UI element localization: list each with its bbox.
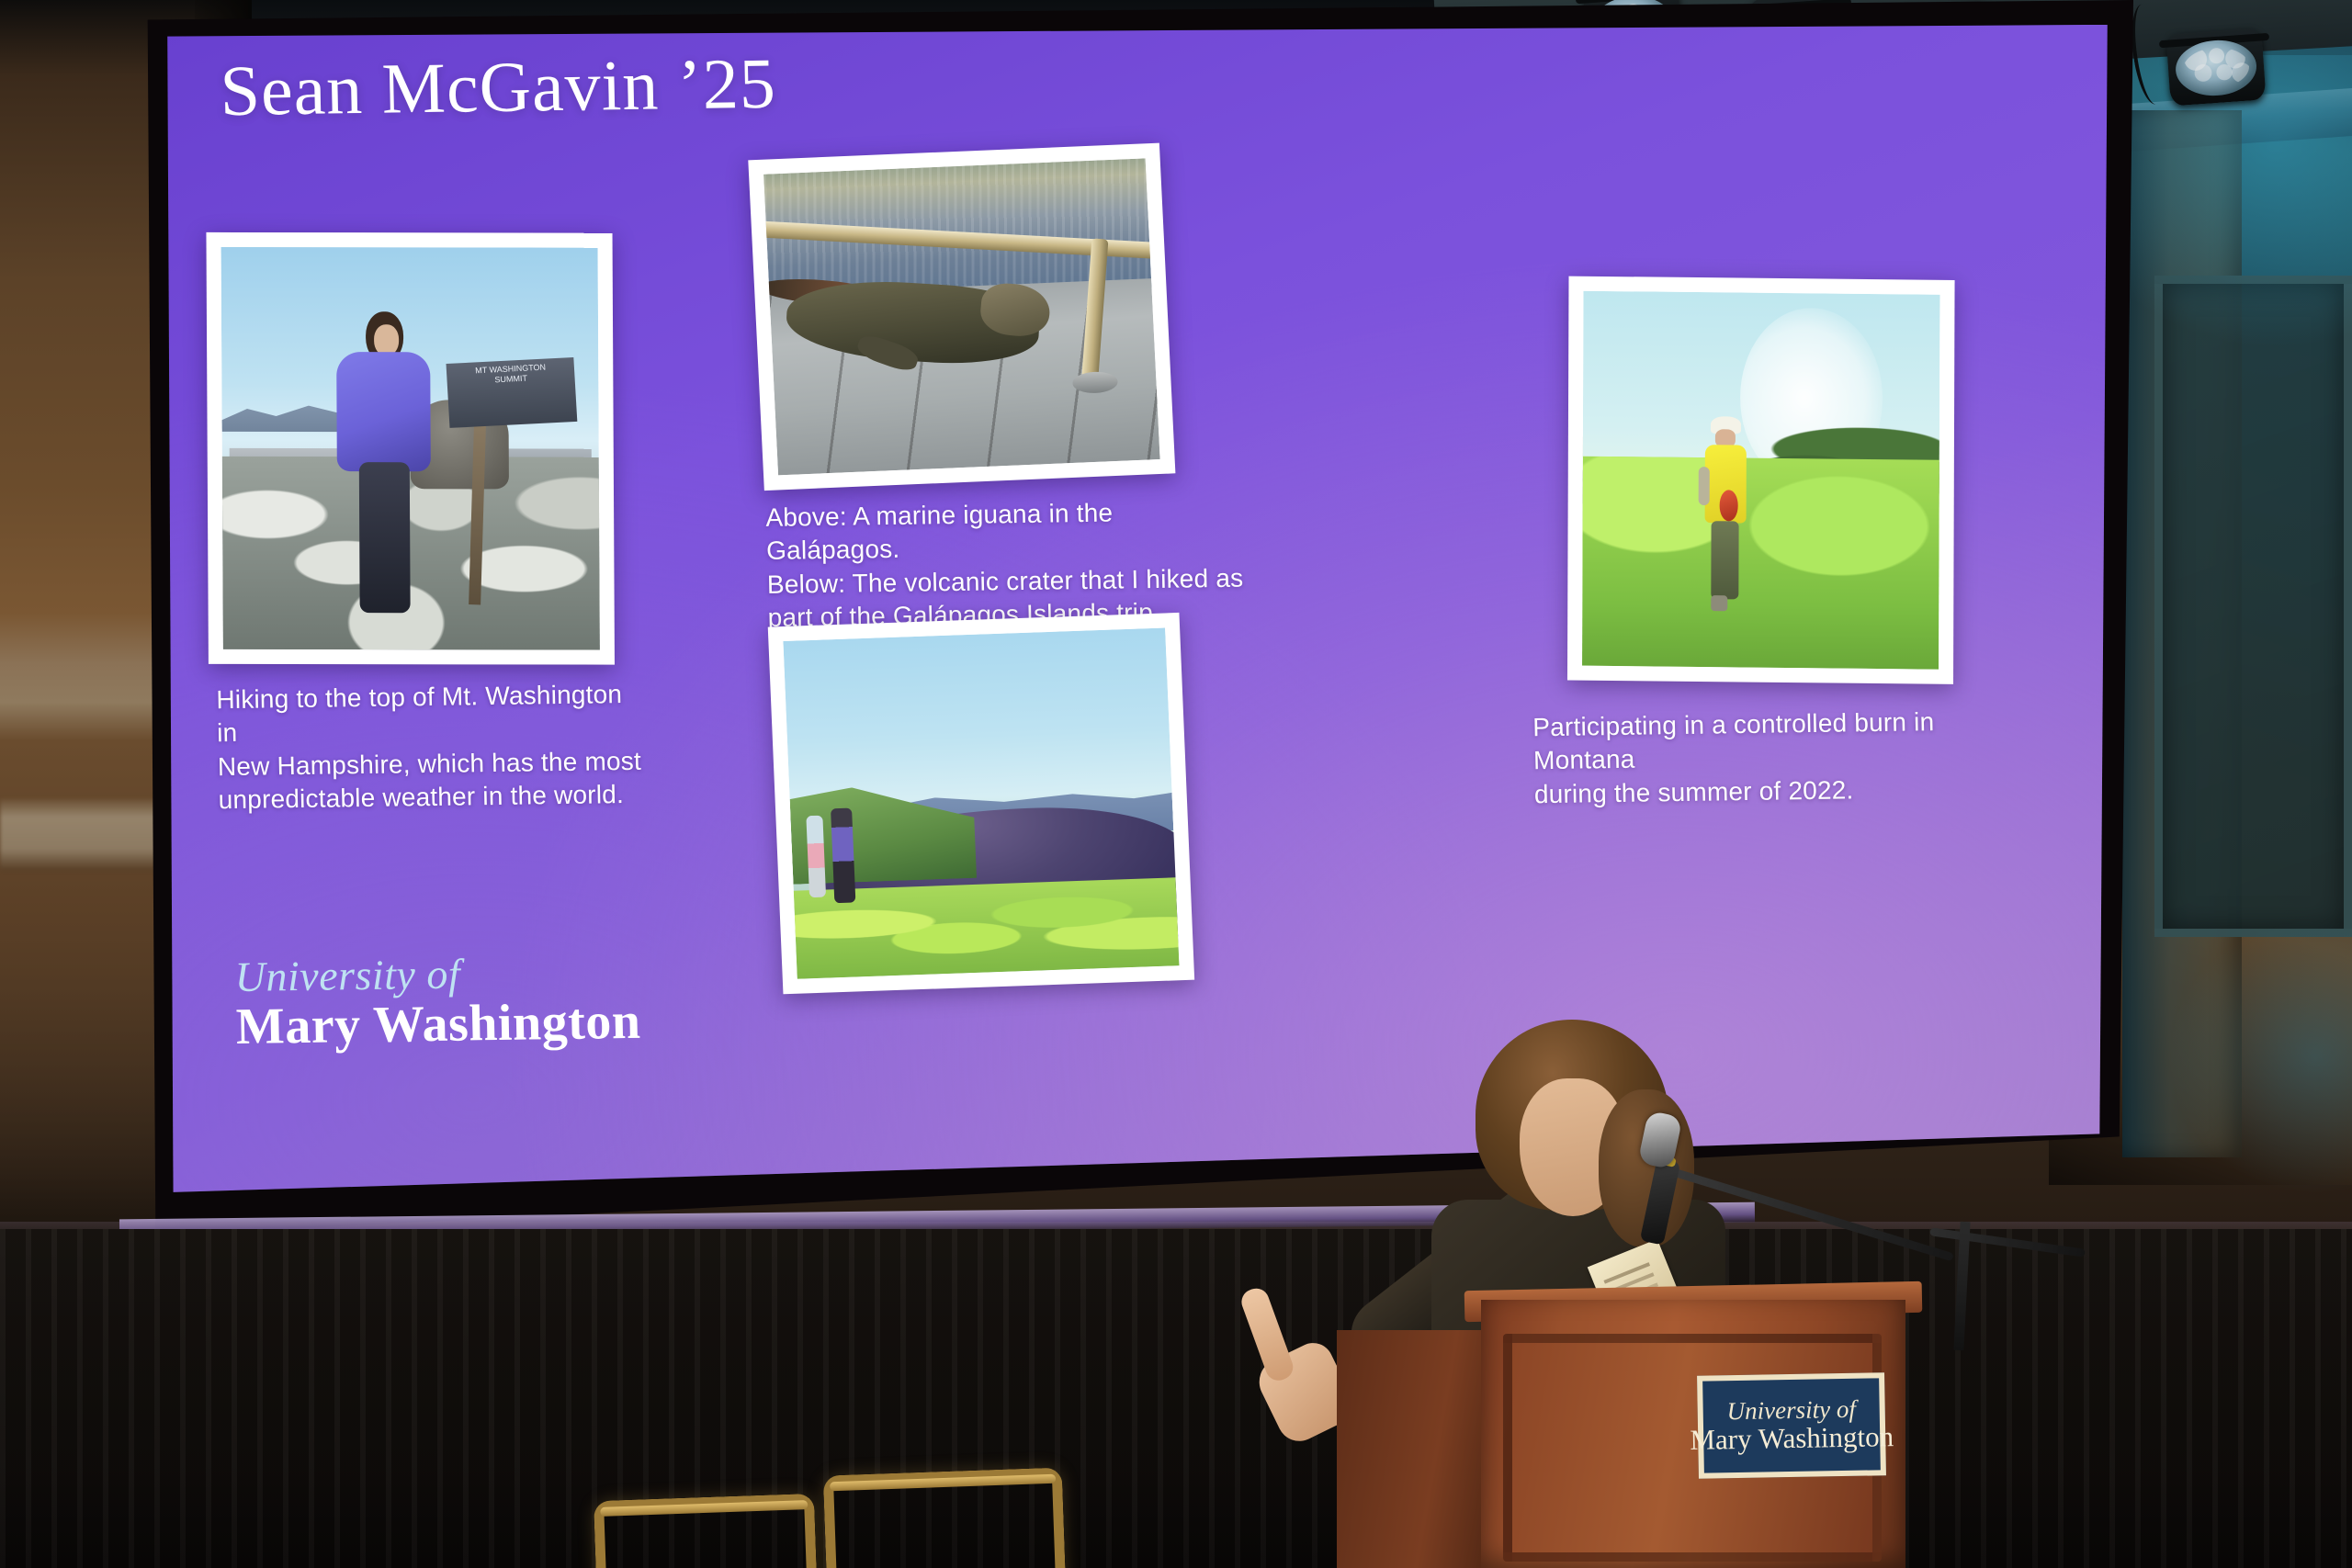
- podium-plaque: University of Mary Washington: [1697, 1372, 1886, 1479]
- hiker-jacket: [336, 353, 431, 472]
- caption-mt-washington: Hiking to the top of Mt. Washington in N…: [216, 678, 650, 818]
- caption-line: Hiking to the top of Mt. Washington in: [216, 678, 649, 750]
- photo-controlled-burn: [1567, 276, 1955, 683]
- hiker-a: [806, 816, 826, 897]
- slide-content: Sean McGavin ’25 MT WASHINGT: [162, 25, 2108, 1192]
- presentation-scene: Sean McGavin ’25 MT WASHINGT: [0, 0, 2352, 1568]
- caption-line: Participating in a controlled burn in Mo…: [1532, 705, 2011, 778]
- wall-recessed-panel: [2154, 276, 2352, 937]
- photo-controlled-burn-image: [1582, 291, 1939, 670]
- umw-slide-logo: University of Mary Washington: [234, 951, 641, 1055]
- gear-pack: [1699, 467, 1710, 506]
- stage-curtain: [0, 1229, 2352, 1568]
- photo-volcanic-crater: [768, 613, 1194, 994]
- grassy-hillside: [1582, 456, 1939, 669]
- stair-handrail-left: [594, 1494, 818, 1568]
- caption-line: Below: The volcanic crater that I hiked …: [766, 561, 1245, 602]
- held-helmet: [1719, 490, 1738, 521]
- stair-handrail-right: [823, 1468, 1066, 1568]
- firefighter: [1703, 416, 1747, 612]
- hiker-b: [831, 807, 855, 903]
- projection-screen: Sean McGavin ’25 MT WASHINGT: [140, 0, 2133, 1235]
- photo-volcanic-crater-image: [783, 627, 1179, 978]
- summit-sign: MT WASHINGTON SUMMIT: [446, 356, 577, 427]
- led-lens: [2174, 38, 2258, 98]
- caption-line: unpredictable weather in the world.: [218, 778, 650, 818]
- podium-left-face: [1337, 1330, 1498, 1568]
- photo-marine-iguana: [748, 143, 1175, 491]
- plaque-line-university-of: University of: [1726, 1397, 1856, 1424]
- caption-controlled-burn: Participating in a controlled burn in Mo…: [1532, 705, 2012, 811]
- screen-frame: Sean McGavin ’25 MT WASHINGT: [140, 0, 2133, 1235]
- caption-line: during the summer of 2022.: [1533, 772, 2012, 812]
- slide-title: Sean McGavin ’25: [219, 42, 776, 132]
- caption-line: Above: A marine iguana in the Galápagos.: [765, 494, 1244, 568]
- slide-surface: Sean McGavin ’25 MT WASHINGT: [162, 25, 2108, 1192]
- photo-mt-washington: MT WASHINGTON SUMMIT: [206, 232, 615, 665]
- hiker: [334, 311, 434, 626]
- photo-mt-washington-image: MT WASHINGTON SUMMIT: [220, 247, 599, 650]
- logo-line-university-of: University of: [234, 951, 639, 998]
- stage-light-par-5: [2165, 28, 2266, 106]
- logo-line-mary-washington: Mary Washington: [235, 995, 641, 1055]
- boots: [1711, 595, 1727, 611]
- hiker-pants: [358, 462, 410, 613]
- photo-marine-iguana-image: [763, 158, 1160, 475]
- hiker-face: [373, 324, 399, 355]
- teal-light-glow-lower: [2168, 919, 2352, 1194]
- plaque-line-mary-washington: Mary Washington: [1690, 1421, 1894, 1455]
- green-pants: [1711, 521, 1738, 599]
